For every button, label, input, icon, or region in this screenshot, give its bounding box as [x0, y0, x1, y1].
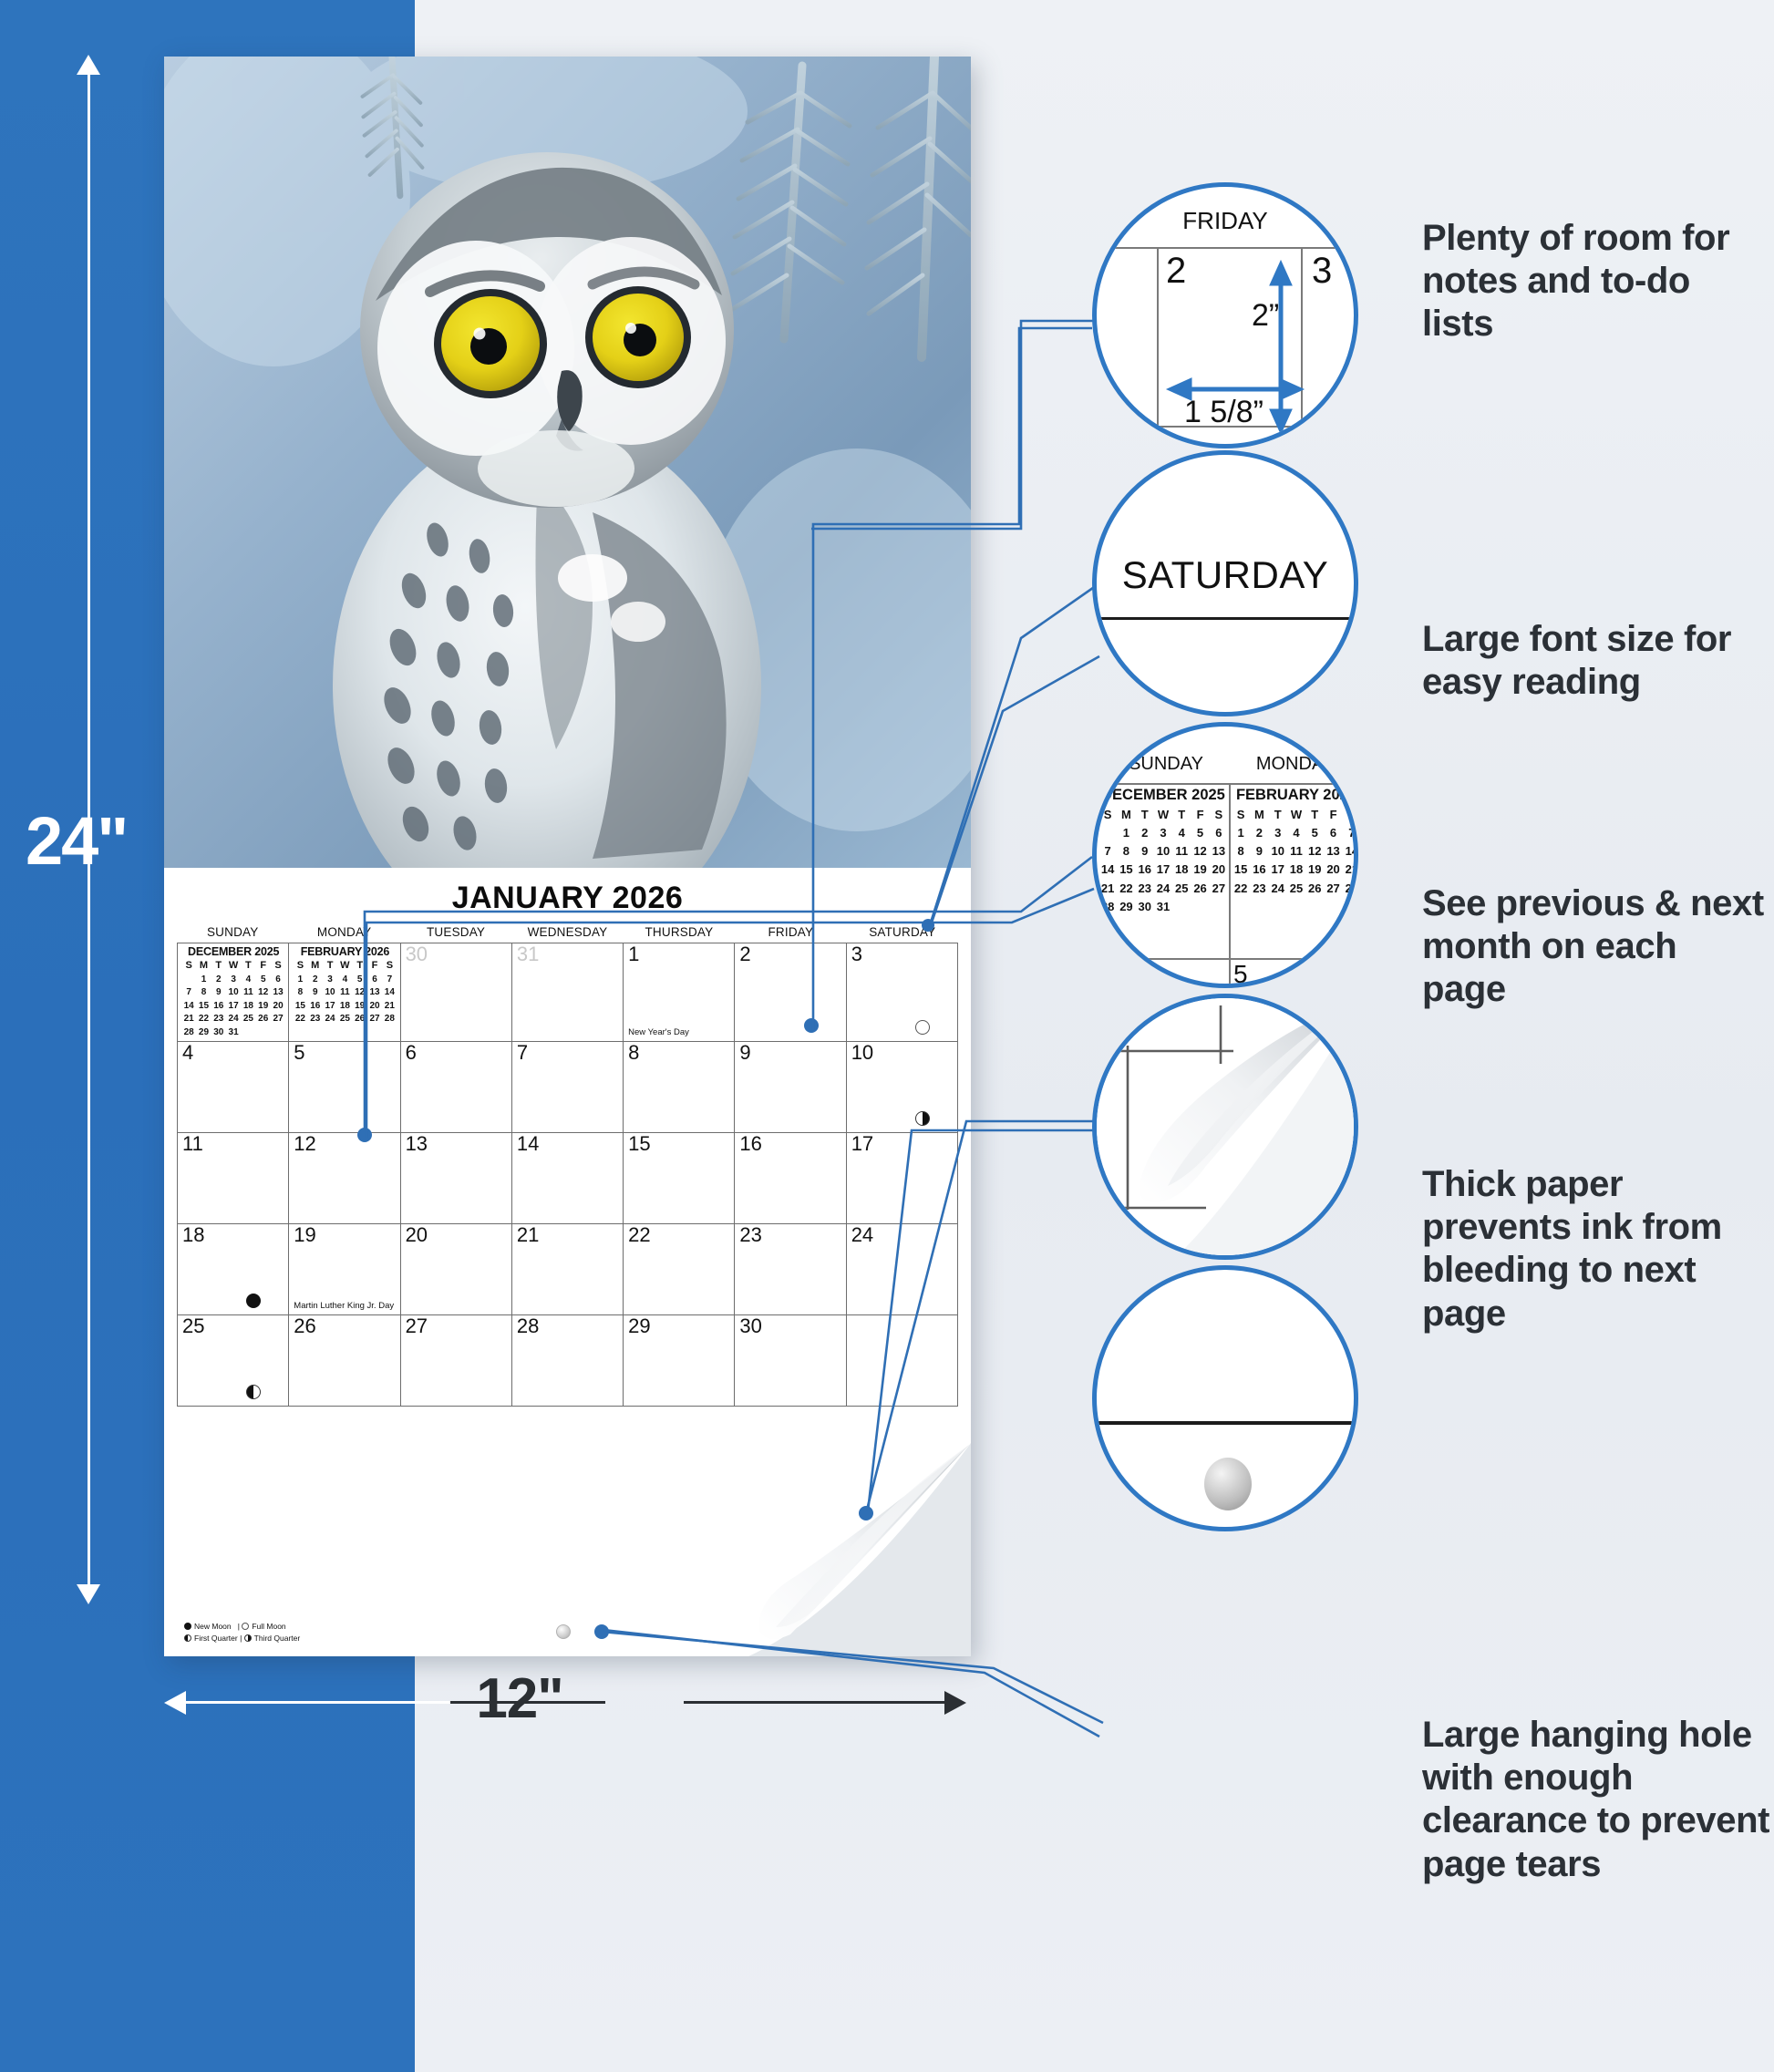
callout-width-measure: 1 5/8” [1184, 395, 1263, 430]
mini-day: 17 [1154, 861, 1172, 879]
mini-day [181, 974, 196, 987]
callout-circle-thick-paper [1092, 994, 1358, 1260]
calendar-week-row: 11121314151617 [178, 1133, 958, 1224]
mini-day: 11 [337, 986, 352, 1000]
mini-day: 27 [367, 1013, 382, 1026]
calendar-day-number: 13 [406, 1134, 428, 1154]
mini-dow: M [1117, 806, 1135, 824]
callout-weekday-large: SATURDAY [1097, 553, 1354, 597]
calendar-month-title: JANUARY 2026 [164, 868, 971, 916]
mini-day: 22 [196, 1013, 211, 1026]
mini-day: 5 [353, 974, 367, 987]
calendar-day-cell[interactable]: 9 [735, 1042, 846, 1133]
calendar-day-number: 9 [739, 1043, 750, 1063]
cell-divider [1229, 783, 1231, 984]
legend-first-quarter: First Quarter [194, 1634, 238, 1643]
calendar-day-cell[interactable]: 1New Year's Day [624, 943, 735, 1042]
mini-day: 9 [308, 986, 323, 1000]
calendar-day-number: 12 [294, 1134, 315, 1154]
mini-day: 9 [1136, 842, 1154, 861]
mini-day: 24 [1154, 880, 1172, 898]
calendar-day-number: 11 [182, 1134, 203, 1154]
dimension-line-dark-right [684, 1701, 944, 1704]
mini-day: 14 [1098, 861, 1117, 879]
mini-dow: F [1191, 806, 1209, 824]
moon-phase-third-icon [915, 1111, 930, 1126]
mini-day: 31 [1154, 898, 1172, 916]
mini-day: 30 [1136, 898, 1154, 916]
owl-photograph [164, 57, 971, 868]
mini-dow: F [367, 959, 382, 974]
mini-day: 7 [382, 974, 397, 987]
moon-phase-full-icon [915, 1020, 930, 1035]
mini-day: 10 [323, 986, 337, 1000]
calendar-week-row: 252627282930 [178, 1315, 958, 1407]
mini-dow: M [196, 959, 211, 974]
mini-day: 25 [241, 1013, 255, 1026]
mini-day: 12 [1305, 842, 1324, 861]
calendar-day-cell[interactable]: 14 [512, 1133, 624, 1224]
calendar-day-number: 30 [739, 1316, 761, 1336]
mini-calendar-title: DECEMBER 2025 [1098, 787, 1228, 804]
mini-day: 10 [226, 986, 241, 1000]
mini-day: 4 [337, 974, 352, 987]
mini-calendar-title: DECEMBER 2025 [181, 945, 285, 958]
mini-day: 9 [211, 986, 226, 1000]
calendar-day-header-sunday: SUNDAY [177, 925, 288, 939]
mini-day: 8 [293, 986, 307, 1000]
mini-dow: M [308, 959, 323, 974]
mini-day: 16 [1136, 861, 1154, 879]
mini-dow: S [382, 959, 397, 974]
calendar-product-image: JANUARY 2026 SUNDAYMONDAYTUESDAYWEDNESDA… [164, 57, 971, 1656]
calendar-day-cell[interactable]: 7 [512, 1042, 624, 1133]
mini-day: 6 [1324, 824, 1342, 842]
mini-day: 1 [293, 974, 307, 987]
moon-phase-first-icon [246, 1385, 261, 1399]
mini-dow: S [271, 959, 285, 974]
calendar-day-cell[interactable]: 5 [289, 1042, 400, 1133]
calendar-day-header-friday: FRIDAY [735, 925, 846, 939]
width-label: 12" [476, 1666, 562, 1731]
mini-day: 25 [1287, 880, 1305, 898]
mini-day: 25 [337, 1013, 352, 1026]
calendar-day-number: 2 [739, 944, 750, 964]
calendar-day-number: 10 [851, 1043, 873, 1063]
callout-header-sunday: SUNDAY [1102, 754, 1230, 775]
calendar-day-number: 20 [406, 1225, 428, 1245]
calendar-day-number: 23 [739, 1225, 761, 1245]
legend-new-moon: New Moon [194, 1622, 232, 1631]
calendar-day-number: 5 [294, 1043, 304, 1063]
mini-day: 26 [256, 1013, 271, 1026]
mini-day [256, 1026, 271, 1040]
calendar-day-cell[interactable]: 20 [401, 1224, 512, 1315]
mini-day: 16 [211, 1000, 226, 1014]
mini-day: 18 [1172, 861, 1191, 879]
divider-bottom [1097, 958, 1354, 960]
calendar-day-cell[interactable]: 31 [512, 943, 624, 1042]
mini-day: 4 [241, 974, 255, 987]
calendar-day-cell[interactable]: 26 [289, 1315, 400, 1407]
calendar-day-number: 8 [628, 1043, 639, 1063]
mini-day: 23 [308, 1013, 323, 1026]
mini-dow: W [1154, 806, 1172, 824]
divider [1097, 783, 1354, 785]
calendar-day-number: 24 [851, 1225, 873, 1245]
calendar-day-cell[interactable]: 17 [847, 1133, 958, 1224]
mini-dow: T [1172, 806, 1191, 824]
mini-day: 19 [353, 1000, 367, 1014]
owl-illustration [164, 57, 971, 868]
calendar-day-cell[interactable]: 22 [624, 1224, 735, 1315]
calendar-day-cell[interactable]: 23 [735, 1224, 846, 1315]
mini-day: 15 [1232, 861, 1250, 879]
mini-dow: S [293, 959, 307, 974]
mini-day: 27 [1210, 880, 1228, 898]
mini-dow: T [1136, 806, 1154, 824]
mini-day: 26 [1305, 880, 1324, 898]
calendar-week-row: 45678910 [178, 1042, 958, 1133]
calendar-day-cell[interactable]: 10 [847, 1042, 958, 1133]
calendar-day-cell[interactable]: 21 [512, 1224, 624, 1315]
mini-day [271, 1026, 285, 1040]
page-curl-zoom-icon [1097, 998, 1358, 1260]
mini-dow: W [337, 959, 352, 974]
calendar-day-cell[interactable] [847, 1315, 958, 1407]
mini-day [1191, 898, 1209, 916]
mini-day: 18 [241, 1000, 255, 1014]
calendar-day-cell[interactable]: 6 [401, 1042, 512, 1133]
callout-text-hanging-hole: Large hanging hole with enough clearance… [1422, 1714, 1774, 1886]
mini-day: 19 [256, 1000, 271, 1014]
mini-day: 16 [308, 1000, 323, 1014]
calendar-day-cell[interactable]: 13 [401, 1133, 512, 1224]
calendar-day-header-tuesday: TUESDAY [400, 925, 511, 939]
calendar-day-number: 26 [294, 1316, 315, 1336]
legend-full-moon: Full Moon [252, 1622, 285, 1631]
mini-day: 12 [353, 986, 367, 1000]
mini-day: 12 [256, 986, 271, 1000]
mini-day: 22 [293, 1013, 307, 1026]
mini-dow: M [1250, 806, 1268, 824]
width-dimension-arrow [164, 1691, 966, 1715]
mini-day: 3 [1154, 824, 1172, 842]
calendar-day-cell[interactable]: 30 [735, 1315, 846, 1407]
mini-day: 21 [1343, 861, 1358, 879]
mini-day: 21 [181, 1013, 196, 1026]
calendar-day-number: 27 [406, 1316, 428, 1336]
mini-day: 10 [1269, 842, 1287, 861]
mini-day: 2 [308, 974, 323, 987]
mini-day: 17 [226, 1000, 241, 1014]
calendar-day-number: 17 [851, 1134, 873, 1154]
mini-day: 23 [1250, 880, 1268, 898]
mini-day: 2 [211, 974, 226, 987]
calendar-day-cell[interactable]: 19Martin Luther King Jr. Day [289, 1224, 400, 1315]
calendar-day-cell[interactable]: 3 [847, 943, 958, 1042]
divider [1097, 1421, 1354, 1425]
new-moon-icon [184, 1623, 191, 1630]
mini-day: 14 [382, 986, 397, 1000]
mini-day: 21 [1098, 880, 1117, 898]
legend-third-quarter: Third Quarter [254, 1634, 301, 1643]
mini-dow: S [181, 959, 196, 974]
calendar-day-number: 1 [628, 944, 639, 964]
calendar-day-number: 31 [517, 944, 539, 964]
legend-separator-1: | [238, 1622, 240, 1631]
callout-day-number: 5 [1233, 960, 1248, 988]
mini-day: 3 [1269, 824, 1287, 842]
mini-day [1210, 898, 1228, 916]
mini-dow: W [226, 959, 241, 974]
mini-dow: F [1324, 806, 1342, 824]
mini-day: 13 [367, 986, 382, 1000]
calendar-day-number: 16 [739, 1134, 761, 1154]
divider [1097, 617, 1354, 620]
mini-dow: T [353, 959, 367, 974]
calendar-day-header-thursday: THURSDAY [624, 925, 735, 939]
mini-dow: T [323, 959, 337, 974]
mini-day: 7 [181, 986, 196, 1000]
mini-day: 2 [1250, 824, 1268, 842]
mini-day [1098, 824, 1117, 842]
mini-day: 13 [1324, 842, 1342, 861]
mini-day: 8 [196, 986, 211, 1000]
mini-day: 19 [1191, 861, 1209, 879]
mini-day: 26 [1191, 880, 1209, 898]
mini-day: 4 [1172, 824, 1191, 842]
mini-day: 14 [181, 1000, 196, 1014]
moon-phase-new-icon [246, 1294, 261, 1308]
calendar-day-cell[interactable]: 29 [624, 1315, 735, 1407]
mini-day: 10 [1154, 842, 1172, 861]
calendar-day-number: 7 [517, 1043, 528, 1063]
mini-day: 11 [1172, 842, 1191, 861]
mini-day: 20 [1210, 861, 1228, 879]
mini-day: 20 [367, 1000, 382, 1014]
mini-calendar-december: DECEMBER 2025SMTWTFS12345678910111213141… [181, 945, 285, 1039]
calendar-day-cell[interactable]: 15 [624, 1133, 735, 1224]
calendar-day-number: 14 [517, 1134, 539, 1154]
callout-circle-prev-next-month: SUNDAY MONDAY DECEMBER 2025SMTWTFS123456… [1092, 722, 1358, 988]
hanging-hole-zoom-icon [1204, 1458, 1252, 1510]
mini-day: 8 [1232, 842, 1250, 861]
mini-day: 11 [241, 986, 255, 1000]
mini-day: 29 [196, 1026, 211, 1040]
mini-day: 18 [1287, 861, 1305, 879]
calendar-day-cell[interactable]: 24 [847, 1224, 958, 1315]
callout-text-large-font: Large font size for easy reading [1422, 618, 1759, 704]
mini-day: 28 [382, 1013, 397, 1026]
mini-day: 17 [323, 1000, 337, 1014]
calendar-day-number: 29 [628, 1316, 650, 1336]
mini-calendar-december-zoom: DECEMBER 2025SMTWTFS12345678910111213141… [1098, 787, 1228, 916]
calendar-day-number: 19 [294, 1225, 315, 1245]
mini-day: 15 [196, 1000, 211, 1014]
calendar-day-header-saturday: SATURDAY [847, 925, 958, 939]
full-moon-icon [242, 1623, 249, 1630]
calendar-day-cell[interactable]: 8 [624, 1042, 735, 1133]
mini-dow: W [1287, 806, 1305, 824]
calendar-day-number: 21 [517, 1225, 539, 1245]
callout-text-prev-next-month: See previous & next month on each page [1422, 882, 1769, 1012]
calendar-day-cell[interactable]: 28 [512, 1315, 624, 1407]
mini-day: 1 [1232, 824, 1250, 842]
calendar-day-cell[interactable]: 18 [178, 1224, 289, 1315]
mini-day: 1 [1117, 824, 1135, 842]
calendar-day-cell[interactable]: 12 [289, 1133, 400, 1224]
first-quarter-icon [184, 1634, 191, 1642]
legend-separator-2: | [240, 1634, 242, 1643]
mini-day: 5 [1191, 824, 1209, 842]
calendar-day-cell[interactable]: 16 [735, 1133, 846, 1224]
calendar-week-row: 1819Martin Luther King Jr. Day2021222324 [178, 1224, 958, 1315]
mini-day: 31 [226, 1026, 241, 1040]
mini-day: 18 [337, 1000, 352, 1014]
calendar-holiday-label: Martin Luther King Jr. Day [294, 1301, 394, 1311]
calendar-day-cell[interactable]: 25 [178, 1315, 289, 1407]
calendar-day-cell[interactable]: 11 [178, 1133, 289, 1224]
calendar-day-number: 28 [517, 1316, 539, 1336]
mini-day: 22 [1232, 880, 1250, 898]
callout-text-thick-paper: Thick paper prevents ink from bleeding t… [1422, 1163, 1774, 1335]
mini-day: 8 [1117, 842, 1135, 861]
calendar-day-header-monday: MONDAY [288, 925, 399, 939]
mini-day: 6 [271, 974, 285, 987]
calendar-day-cell[interactable]: 4 [178, 1042, 289, 1133]
calendar-day-number: 22 [628, 1225, 650, 1245]
mini-day: 28 [1098, 898, 1117, 916]
mini-day: 5 [1305, 824, 1324, 842]
mini-day: 7 [1098, 842, 1117, 861]
mini-day: 28 [181, 1026, 196, 1040]
mini-day: 19 [1305, 861, 1324, 879]
mini-day: 24 [323, 1013, 337, 1026]
calendar-date-grid: DECEMBER 2025SMTWTFS12345678910111213141… [177, 943, 958, 1407]
mini-day: 3 [323, 974, 337, 987]
calendar-grid-page: JANUARY 2026 SUNDAYMONDAYTUESDAYWEDNESDA… [164, 868, 971, 1656]
arrow-down-icon [77, 1584, 100, 1604]
calendar-day-number: 18 [182, 1225, 204, 1245]
callout-circle-large-font: SATURDAY [1092, 450, 1358, 716]
mini-dow: T [1269, 806, 1287, 824]
mini-dow: S [1232, 806, 1250, 824]
calendar-day-cell[interactable]: 27 [401, 1315, 512, 1407]
mini-day: 24 [1269, 880, 1287, 898]
mini-day: 2 [1136, 824, 1154, 842]
calendar-day-number: 4 [182, 1043, 193, 1063]
mini-dow: T [241, 959, 255, 974]
calendar-day-headers: SUNDAYMONDAYTUESDAYWEDNESDAYTHURSDAYFRID… [164, 925, 971, 939]
mini-calendar-february-zoom: FEBRUARY 2026SMTWTFS12345678910111213141… [1232, 787, 1358, 898]
mini-day: 6 [1210, 824, 1228, 842]
calendar-day-number: 15 [628, 1134, 650, 1154]
mini-day: 16 [1250, 861, 1268, 879]
mini-day: 22 [1117, 880, 1135, 898]
mini-dow: S [1210, 806, 1228, 824]
mini-calendar-title: FEBRUARY 2026 [1232, 787, 1358, 804]
calendar-holiday-label: New Year's Day [628, 1027, 689, 1037]
calendar-day-number: 25 [182, 1316, 204, 1336]
mini-day: 29 [1117, 898, 1135, 916]
mini-day [1172, 898, 1191, 916]
mini-day: 27 [271, 1013, 285, 1026]
mini-day: 20 [1324, 861, 1342, 879]
calendar-day-number: 6 [406, 1043, 417, 1063]
mini-day: 4 [1287, 824, 1305, 842]
arrow-left-icon [164, 1691, 186, 1715]
mini-day: 25 [1172, 880, 1191, 898]
mini-day: 13 [271, 986, 285, 1000]
mini-day: 6 [367, 974, 382, 987]
third-quarter-icon [244, 1634, 252, 1642]
mini-calendar-february: FEBRUARY 2026SMTWTFS12345678910111213141… [293, 945, 397, 1026]
mini-day: 30 [211, 1026, 226, 1040]
mini-day: 24 [226, 1013, 241, 1026]
moon-phase-legend: New Moon | Full Moon First Quarter | Thi… [184, 1621, 300, 1644]
callout-text-notes-room: Plenty of room for notes and to-do lists [1422, 217, 1759, 346]
calendar-day-cell[interactable]: 2 [735, 943, 846, 1042]
mini-day: 12 [1191, 842, 1209, 861]
mini-dow: T [211, 959, 226, 974]
mini-day: 23 [1136, 880, 1154, 898]
mini-day: 9 [1250, 842, 1268, 861]
dimension-line-white [186, 1701, 450, 1704]
mini-dow: S [1098, 806, 1117, 824]
mini-day: 15 [293, 1000, 307, 1014]
hanging-hole [556, 1624, 571, 1639]
mini-day: 20 [271, 1000, 285, 1014]
mini-day: 3 [226, 974, 241, 987]
callout-circle-hanging-hole [1092, 1265, 1358, 1531]
calendar-day-number: 30 [406, 944, 428, 964]
mini-day: 15 [1117, 861, 1135, 879]
calendar-week-row: DECEMBER 2025SMTWTFS12345678910111213141… [178, 943, 958, 1042]
mini-day: 23 [211, 1013, 226, 1026]
calendar-day-number: 3 [851, 944, 862, 964]
calendar-day-cell[interactable]: 30 [401, 943, 512, 1042]
calendar-day-cell[interactable]: DECEMBER 2025SMTWTFS12345678910111213141… [178, 943, 289, 1042]
mini-day: 5 [256, 974, 271, 987]
callout-height-measure: 2” [1252, 298, 1279, 334]
mini-calendar-title: FEBRUARY 2026 [293, 945, 397, 958]
mini-dow: T [1305, 806, 1324, 824]
callout-header-monday: MONDAY [1232, 754, 1358, 775]
callout-circle-notes-room: FRIDAY 2 3 2” 1 5/8” [1092, 182, 1358, 448]
mini-day: 26 [353, 1013, 367, 1026]
arrow-right-icon [944, 1691, 966, 1715]
mini-day: 21 [382, 1000, 397, 1014]
mini-day [241, 1026, 255, 1040]
mini-day: 14 [1343, 842, 1358, 861]
mini-day: 17 [1269, 861, 1287, 879]
mini-day: 27 [1324, 880, 1342, 898]
calendar-day-cell[interactable]: FEBRUARY 2026SMTWTFS12345678910111213141… [289, 943, 400, 1042]
calendar-day-header-wednesday: WEDNESDAY [511, 925, 623, 939]
mini-day: 13 [1210, 842, 1228, 861]
mini-day: 1 [196, 974, 211, 987]
height-label: 24" [26, 802, 127, 880]
mini-day: 11 [1287, 842, 1305, 861]
mini-dow: F [256, 959, 271, 974]
